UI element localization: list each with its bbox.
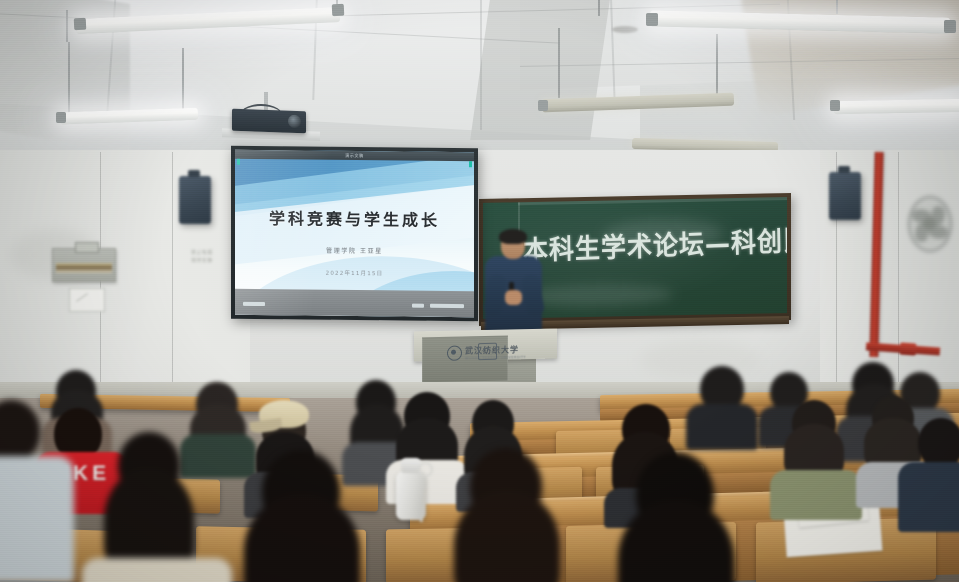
ceiling-shadow-panel [470, 0, 610, 140]
slideshow-edge-marker-left [237, 159, 240, 165]
bottle-handle [418, 462, 433, 477]
blackboard-text: 本科生学术论坛—科创比赛 [523, 225, 787, 267]
light-hanger [598, 0, 600, 16]
wall-smudge [640, 340, 760, 380]
tube-end-cap [332, 4, 345, 17]
ceiling-projector [232, 109, 306, 134]
speaker-bracket [188, 170, 200, 177]
tube-end-cap [646, 13, 658, 26]
chalk-smear [523, 283, 673, 308]
ceiling [0, 0, 959, 168]
tube-end-cap [74, 18, 87, 31]
taskbar-clock [430, 304, 464, 308]
projector-lens-icon [288, 115, 301, 128]
water-bottle [396, 458, 426, 520]
wall-seam [172, 152, 173, 382]
wall-sign-line-2: 保持安静 [191, 258, 213, 265]
wall-speaker-left [179, 176, 211, 224]
wall-note-card [69, 288, 105, 312]
presenter-hair [499, 229, 527, 244]
slideshow-edge-marker-right [469, 161, 472, 167]
wall-sign-line-1: 禁止吸烟 [191, 250, 213, 257]
podium-plaque: 武汉纺织大学 WUHAN TEXTILE UNIVERSITY [422, 336, 508, 384]
slide-title: 学科竞赛与学生成长 [235, 205, 474, 232]
podium-front-panel: 武汉纺织大学 WUHAN TEXTILE UNIVERSITY [414, 329, 557, 362]
taskbar-tray-icon[interactable] [412, 304, 424, 308]
lecture-hall-photo: 禁止吸烟 保持安静 本科生学术论坛—科创比赛 [0, 0, 959, 582]
light-hanger [182, 48, 184, 114]
tube-end-cap [56, 112, 66, 123]
light-hanger [68, 42, 70, 118]
presentation-titlebar-text: 演示文稿 [345, 152, 363, 158]
blackboard-panel-edge [518, 197, 787, 205]
wall-notice-frame [52, 248, 116, 282]
light-hanger [558, 28, 560, 98]
fan-hub [923, 217, 936, 230]
taskbar-item[interactable] [243, 302, 265, 306]
frame-artwork [56, 263, 112, 273]
tube-end-cap [944, 20, 956, 33]
note-line [76, 293, 88, 302]
ceiling-beam [480, 0, 482, 130]
tube-end-cap [538, 100, 548, 111]
wall-mounted-fan [908, 196, 952, 252]
university-crest-icon [478, 343, 497, 360]
projection-screen-surface[interactable]: 学科竞赛与学生成长 管理学院 王亚星 2022年11月15日 演示文稿 [235, 150, 474, 318]
presenter-hands [505, 290, 522, 305]
ceiling-vent [612, 26, 638, 33]
frame-clip [75, 242, 99, 253]
light-hanger [836, 0, 838, 14]
fluorescent-tube-5 [834, 99, 959, 114]
fire-pipe-joint [900, 342, 917, 355]
tube-end-cap [830, 100, 840, 111]
speaker-bracket [838, 166, 850, 173]
light-hanger [66, 10, 68, 42]
university-emblem-icon [447, 345, 462, 360]
presenter [484, 232, 544, 334]
desktop-taskbar[interactable] [235, 289, 474, 318]
projection-screen[interactable]: 学科竞赛与学生成长 管理学院 王亚星 2022年11月15日 演示文稿 [231, 146, 478, 322]
left-wall [0, 150, 250, 420]
wall-speaker-right [829, 172, 861, 220]
light-hanger [716, 34, 718, 100]
